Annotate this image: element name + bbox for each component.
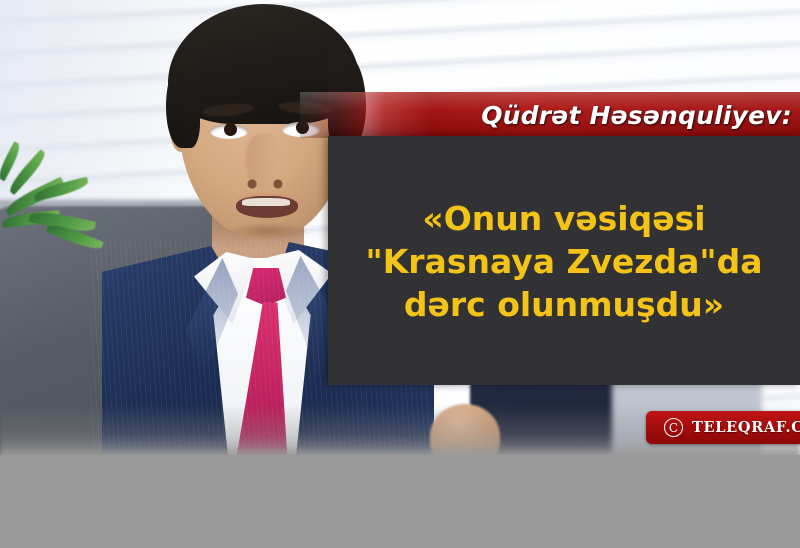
pupil-left [224,123,237,136]
quote-line: "Krasnaya Zvezda"da [366,242,763,283]
bottom-grey-band [0,455,800,548]
quote-text: «Onun vəsiqəsi "Krasnaya Zvezda"da dərc … [328,140,800,385]
chin-shadow [226,222,310,240]
copyright-icon: C [664,418,683,437]
site-logo-label: TELEQRAF.COM [692,419,800,436]
quote-line: «Onun vəsiqəsi [422,199,705,240]
site-logo-badge[interactable]: C TELEQRAF.COM [646,411,800,444]
news-graphic-card: Qüdrət Həsənquliyev: «Onun vəsiqəsi "Kra… [0,0,800,548]
nostrils [242,178,288,190]
speaker-name: Qüdrət Həsənquliyev: [300,92,792,138]
teeth [242,198,290,206]
hair-side-left [166,58,200,148]
quote-line: dərc olunmuşdu» [404,285,724,326]
